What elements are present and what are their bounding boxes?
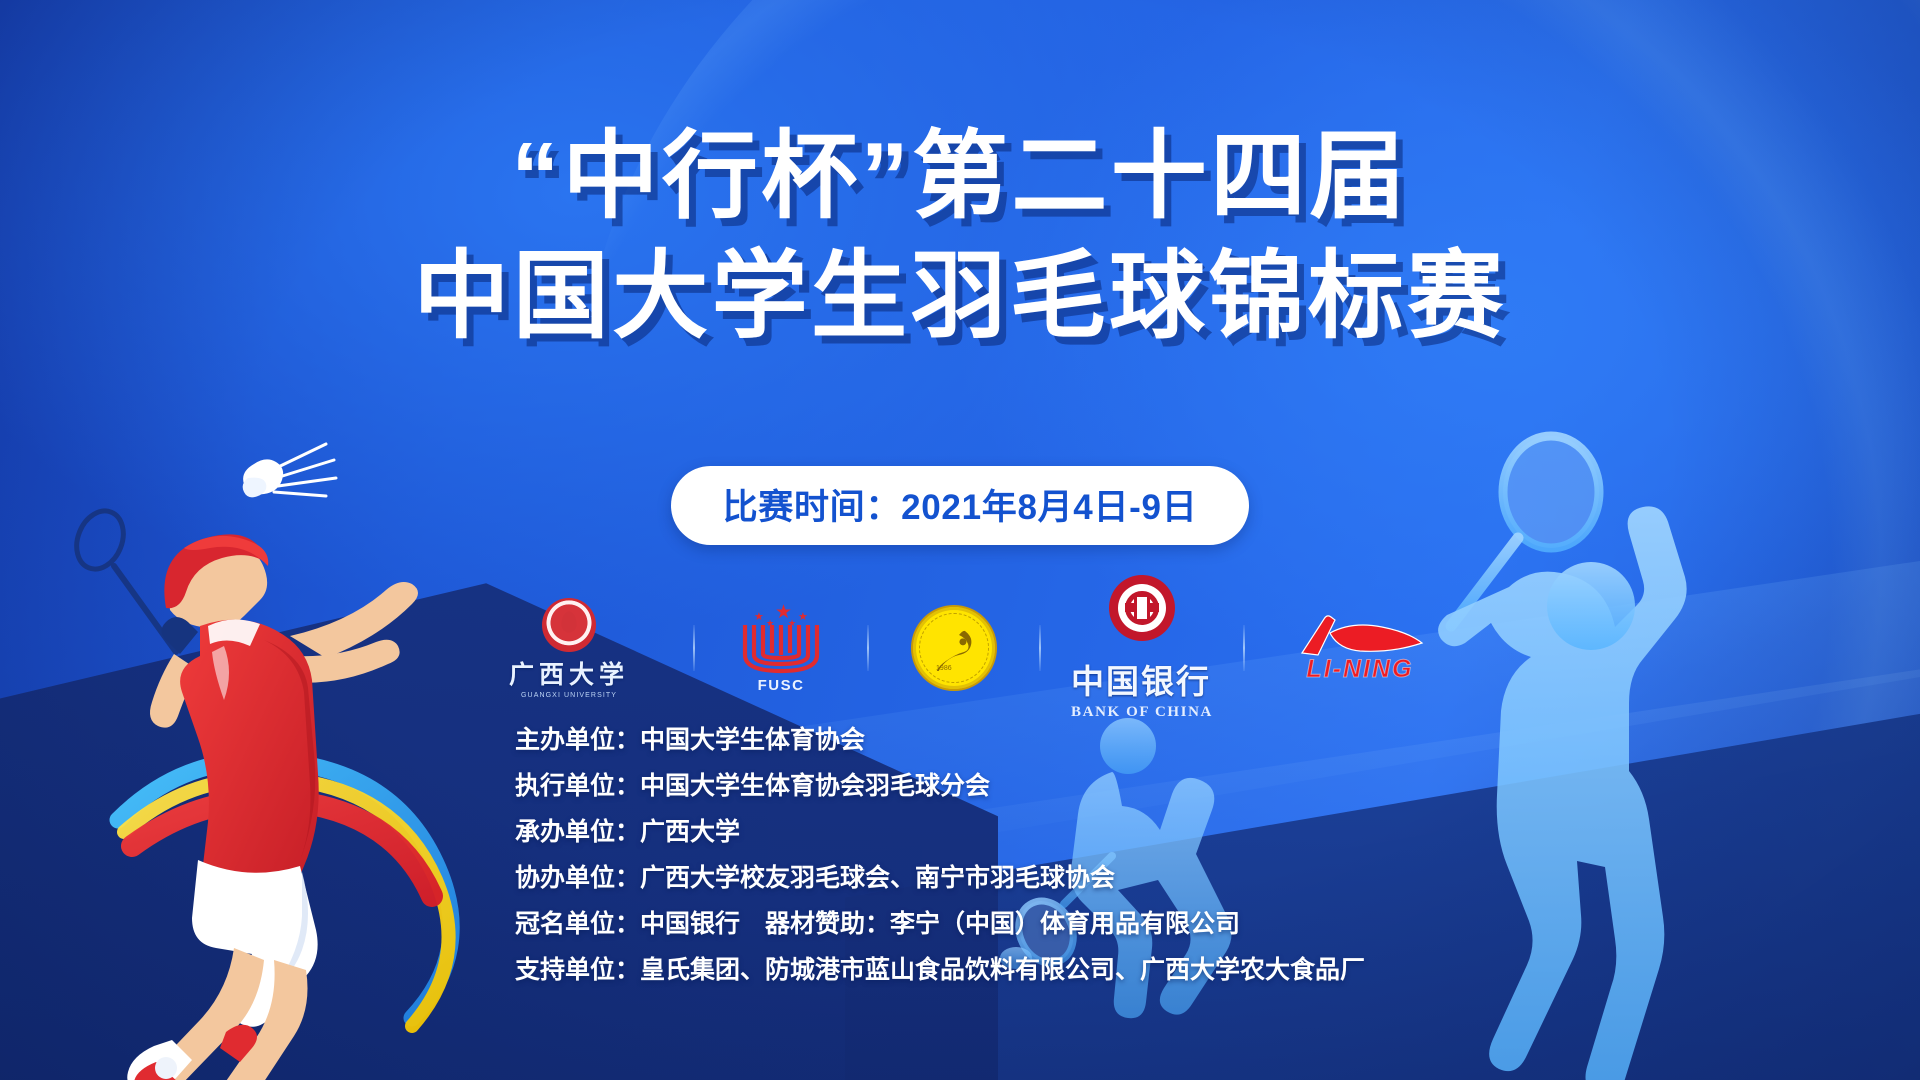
li-ning-mark-icon [1294, 613, 1426, 657]
title-line-1: “中行杯”第二十四届 [0, 128, 1920, 226]
poster-title: “中行杯”第二十四届 中国大学生羽毛球锦标赛 [0, 128, 1920, 346]
logo-bank-of-china: 中国银行 BANK OF CHINA [1071, 575, 1213, 721]
logo-divider [867, 625, 869, 671]
sponsor-logo-row: 广西大学 GUANGXI UNIVERSITY ★ ★ ★ ★ ★ [0, 575, 1920, 721]
credit-line-supporters: 支持单位：皇氏集团、防城港市蓝山食品饮料有限公司、广西大学农大食品厂 [515, 958, 1365, 983]
title-line-2: 中国大学生羽毛球锦标赛 [0, 248, 1920, 346]
bank-of-china-en-label: BANK OF CHINA [1071, 704, 1213, 721]
logo-divider [693, 625, 695, 671]
bank-of-china-mark-icon [1109, 575, 1175, 641]
credit-line-title-sponsor: 冠名单位：中国银行 器材赞助：李宁（中国）体育用品有限公司 [515, 912, 1365, 937]
guangxi-university-seal-icon [542, 598, 596, 652]
fusc-label: FUSC [758, 677, 805, 694]
credit-line-organizer: 主办单位：中国大学生体育协会 [515, 728, 1365, 753]
fusc-u-icon [741, 625, 821, 675]
credit-line-executor: 执行单位：中国大学生体育协会羽毛球分会 [515, 774, 1365, 799]
bank-of-china-cn-label: 中国银行 [1071, 655, 1213, 703]
badminton-association-seal-icon: 1986 [911, 605, 997, 691]
logo-divider [1039, 625, 1041, 671]
poster-canvas: “中行杯”第二十四届 中国大学生羽毛球锦标赛 比赛时间：2021年8月4日-9日… [0, 0, 1920, 1080]
logo-fusc: ★ ★ ★ ★ ★ FUSC [725, 603, 837, 694]
guangxi-university-cn-label: 广西大学 [509, 655, 629, 691]
date-badge-wrapper: 比赛时间：2021年8月4日-9日 [0, 466, 1920, 545]
fusc-stars-icon: ★ ★ ★ ★ ★ [738, 603, 824, 625]
guangxi-university-en-label: GUANGXI UNIVERSITY [521, 692, 617, 699]
badminton-association-year: 1986 [936, 665, 952, 672]
li-ning-wordmark-label: LI-NING [1306, 655, 1413, 684]
logo-divider [1243, 625, 1245, 671]
logo-badminton-association: 1986 [899, 605, 1009, 691]
date-badge: 比赛时间：2021年8月4日-9日 [671, 466, 1250, 545]
credit-line-host: 承办单位：广西大学 [515, 820, 1365, 845]
logo-guangxi-university: 广西大学 GUANGXI UNIVERSITY [475, 598, 663, 699]
credits-block: 主办单位：中国大学生体育协会 执行单位：中国大学生体育协会羽毛球分会 承办单位：… [515, 728, 1365, 1004]
logo-li-ning: LI-NING [1275, 613, 1445, 684]
credit-line-co-organizer: 协办单位：广西大学校友羽毛球会、南宁市羽毛球协会 [515, 866, 1365, 891]
